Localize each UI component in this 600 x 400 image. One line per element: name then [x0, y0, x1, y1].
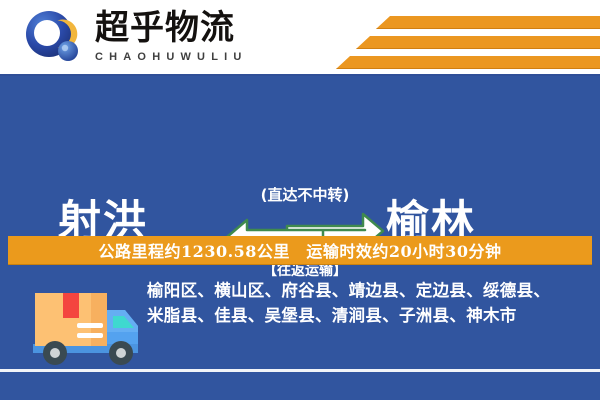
stripe-1 [376, 16, 600, 29]
company-logo-icon [24, 10, 80, 66]
header-stripes-decoration [330, 8, 600, 68]
coverage-section: 榆阳区、横山区、府谷县、靖边县、定边县、绥德县、 米脂县、佳县、吴堡县、清涧县、… [0, 266, 600, 400]
route-section: 射洪 榆林 (直达不中转) 【往返运输】 [0, 76, 600, 234]
stripe-3 [336, 56, 600, 69]
banner-header: 超乎物流 CHAOHUWULIU [0, 0, 600, 75]
bottom-divider [0, 369, 600, 372]
brand-name-cn: 超乎物流 [95, 8, 248, 48]
district-line-1: 榆阳区、横山区、府谷县、靖边县、定边县、绥德县、 [147, 278, 587, 303]
distance-duration-text: 公路里程约1230.58公里 运输时效约20小时30分钟 [99, 238, 502, 262]
delivery-truck-icon [25, 280, 145, 377]
distance-duration-bar: 公路里程约1230.58公里 运输时效约20小时30分钟 [8, 236, 592, 264]
stripe-2 [356, 36, 600, 49]
direct-service-note: (直达不中转) [225, 184, 385, 205]
coverage-district-list: 榆阳区、横山区、府谷县、靖边县、定边县、绥德县、 米脂县、佳县、吴堡县、清涧县、… [147, 278, 587, 328]
logistics-route-banner: 超乎物流 CHAOHUWULIU 射洪 榆林 (直达不中转) 【往返运输】 [0, 0, 600, 400]
brand-name-en: CHAOHUWULIU [95, 50, 248, 64]
district-line-2: 米脂县、佳县、吴堡县、清涧县、子洲县、神木市 [147, 303, 587, 328]
brand-block: 超乎物流 CHAOHUWULIU [95, 8, 248, 64]
